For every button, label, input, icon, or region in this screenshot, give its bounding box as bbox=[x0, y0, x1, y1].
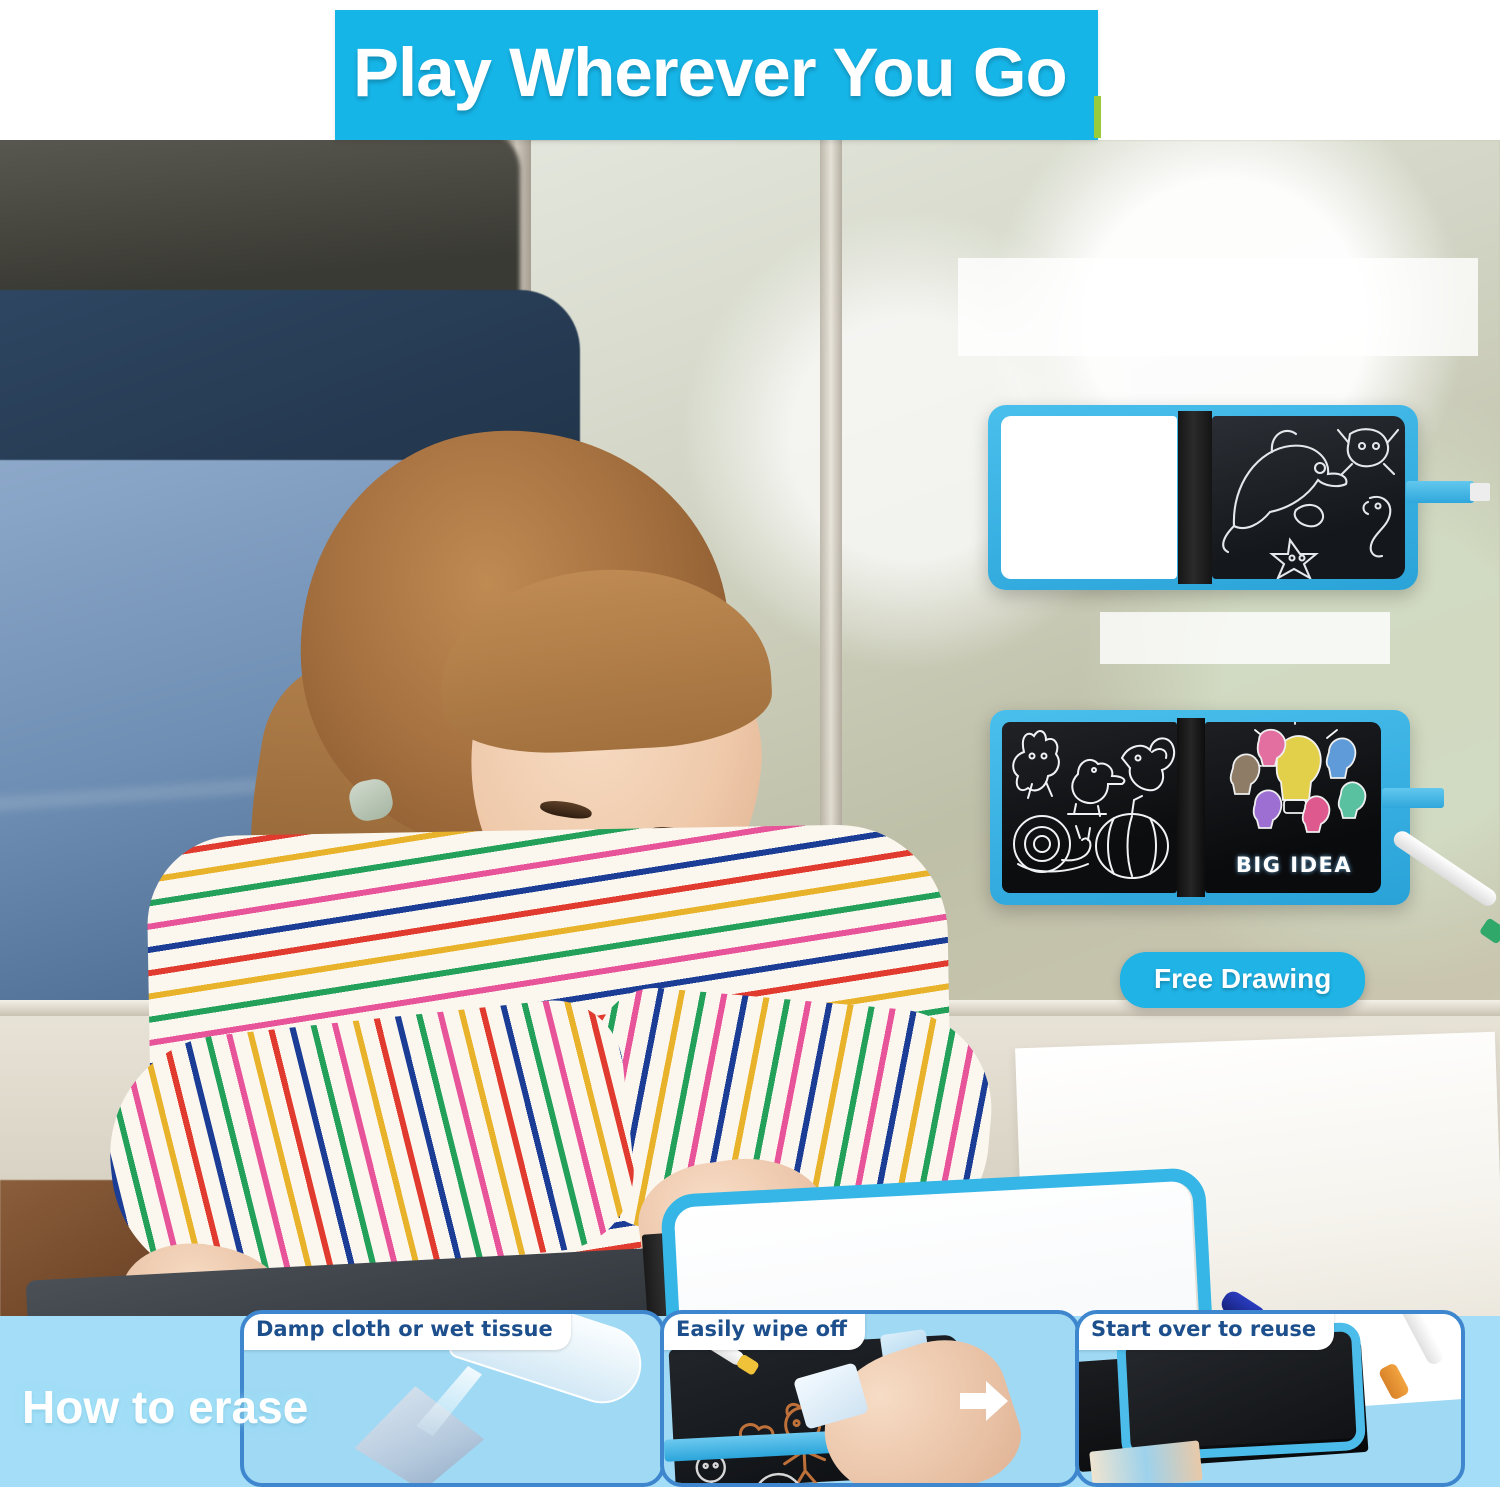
microfiber-cloth bbox=[350, 1382, 487, 1487]
animal-sketches-icon bbox=[1002, 722, 1177, 893]
erase-step-3-label: Start over to reuse bbox=[1075, 1310, 1334, 1350]
erase-step-3-panel: Start over to reuse bbox=[1075, 1310, 1465, 1487]
how-to-erase-title: How to erase bbox=[22, 1380, 308, 1434]
header-accent-bar bbox=[1094, 96, 1101, 138]
big-idea-drawn-text: BIG IDEA bbox=[1219, 853, 1369, 877]
free-drawing-badge: Free Drawing bbox=[1120, 952, 1365, 1008]
erase-step-1-label: Damp cloth or wet tissue bbox=[240, 1310, 571, 1350]
book-strap bbox=[1406, 481, 1474, 503]
blanked-text-area-middle bbox=[1100, 612, 1390, 664]
erase-step-2-label: Easily wipe off bbox=[660, 1310, 865, 1350]
book-black-page bbox=[1212, 416, 1405, 579]
product-inset-sea-animals bbox=[988, 405, 1418, 590]
book-spine bbox=[1178, 411, 1212, 584]
book2-left-page bbox=[1002, 722, 1177, 893]
book2-spine bbox=[1177, 718, 1205, 897]
book-strap-end bbox=[1470, 483, 1490, 501]
book2-strap bbox=[1382, 788, 1444, 808]
page-title: Play Wherever You Go bbox=[335, 38, 1067, 107]
sea-creature-sketches-icon bbox=[1212, 416, 1405, 579]
right-arrow-icon-1 bbox=[958, 1378, 1010, 1424]
blanked-text-area-top bbox=[958, 258, 1478, 356]
product-marketing-image: BIG IDEA Play Wherever You Go Free Drawi… bbox=[0, 0, 1500, 1487]
product-inset-big-idea: BIG IDEA bbox=[990, 710, 1410, 905]
book2-right-page: BIG IDEA bbox=[1205, 722, 1381, 893]
header-banner: Play Wherever You Go bbox=[335, 10, 1098, 140]
book-white-page bbox=[1001, 416, 1177, 579]
erase-step-2-panel: Easily wipe off bbox=[660, 1310, 1080, 1487]
